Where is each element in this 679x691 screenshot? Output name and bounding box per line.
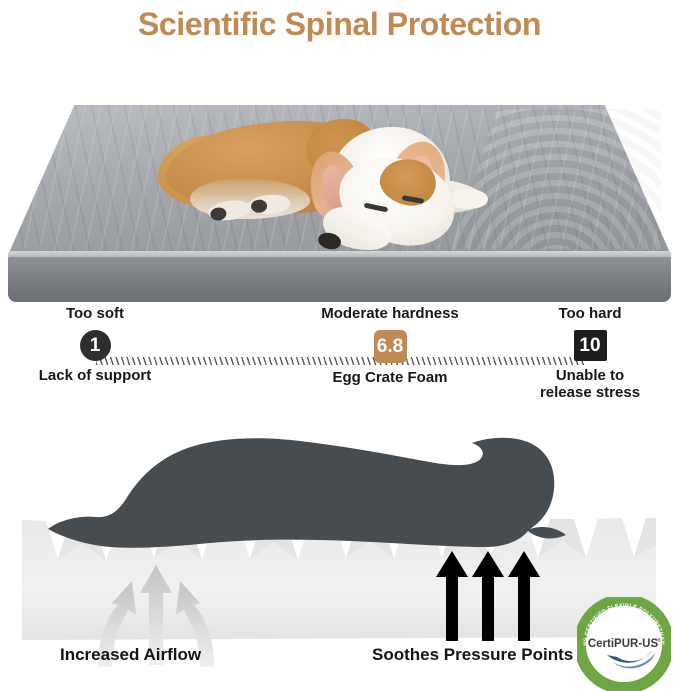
certipur-badge-svg: CONTAINS CERTIFIED FLEXIBLE POLYURETHANE… xyxy=(577,597,671,691)
scale-chip-6-8: 6.8 xyxy=(374,330,407,363)
scale-marker-too-hard: Too hard 10 Unable to release stress xyxy=(520,305,660,401)
pressure-arrows xyxy=(436,551,540,641)
hardness-scale: Too soft 1 Lack of support Moderate hard… xyxy=(0,305,679,420)
hero-product-photo xyxy=(0,50,679,295)
bed-side-panel xyxy=(8,257,671,302)
label-soothes-pressure-points: Soothes Pressure Points xyxy=(372,645,573,665)
scale-label-bottom-soft: Lack of support xyxy=(39,367,152,384)
badge-brand-text: CertiPUR-US xyxy=(588,638,659,650)
corgi-photo xyxy=(156,113,556,263)
page-title: Scientific Spinal Protection xyxy=(138,6,541,43)
scale-marker-moderate: Moderate hardness 6.8 Egg Crate Foam xyxy=(315,305,465,386)
scale-label-bottom-hard-line2: release stress xyxy=(540,384,640,401)
certipur-us-badge: CONTAINS CERTIFIED FLEXIBLE POLYURETHANE… xyxy=(577,597,671,691)
scale-label-top-soft: Too soft xyxy=(66,305,124,325)
dog-bed-illustration xyxy=(8,105,671,295)
scale-chip-10: 10 xyxy=(574,330,607,361)
scale-chip-1: 1 xyxy=(80,330,111,361)
scale-label-bottom-hard: Unable to release stress xyxy=(540,367,640,401)
page-title-bar: Scientific Spinal Protection xyxy=(0,0,679,48)
dog-silhouette xyxy=(48,438,566,548)
scale-label-top-hard: Too hard xyxy=(558,305,621,325)
label-increased-airflow: Increased Airflow xyxy=(60,645,201,665)
badge-registered-mark: ® xyxy=(657,637,661,644)
scale-label-top-moderate: Moderate hardness xyxy=(321,305,459,325)
scale-marker-too-soft: Too soft 1 Lack of support xyxy=(20,305,170,384)
scale-label-bottom-hard-line1: Unable to xyxy=(556,367,624,384)
scale-label-bottom-moderate: Egg Crate Foam xyxy=(332,369,447,386)
